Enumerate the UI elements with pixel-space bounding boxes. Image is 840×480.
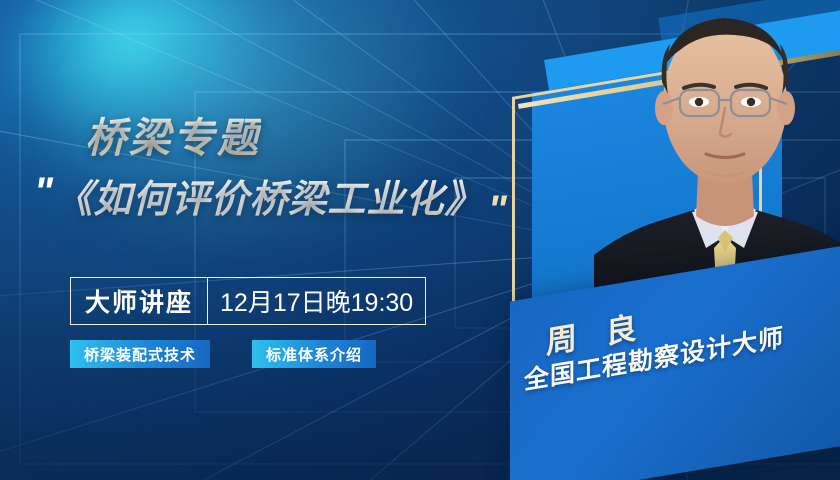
page-title: 桥梁专题 [85,104,261,164]
topic-tag-list: 桥梁装配式技术 标准体系介绍 [70,340,376,368]
lecture-info-box: 大师讲座 12月17日晚19:30 [70,277,426,325]
subtitle: 《如何评价桥梁工业化》 [54,168,483,223]
topic-tag-1[interactable]: 标准体系介绍 [252,340,376,368]
quote-open-icon: " [34,170,50,215]
webinar-poster: 周 良 全国工程勘察设计大师 桥梁专题 " 《如何评价桥梁工业化》 " 大师讲座… [0,0,840,480]
lecture-label: 大师讲座 [71,278,208,324]
topic-tag-0[interactable]: 桥梁装配式技术 [70,340,210,368]
lecture-datetime: 12月17日晚19:30 [208,278,425,324]
subtitle-row: " 《如何评价桥梁工业化》 " [34,168,504,223]
quote-close-icon: " [488,188,504,233]
